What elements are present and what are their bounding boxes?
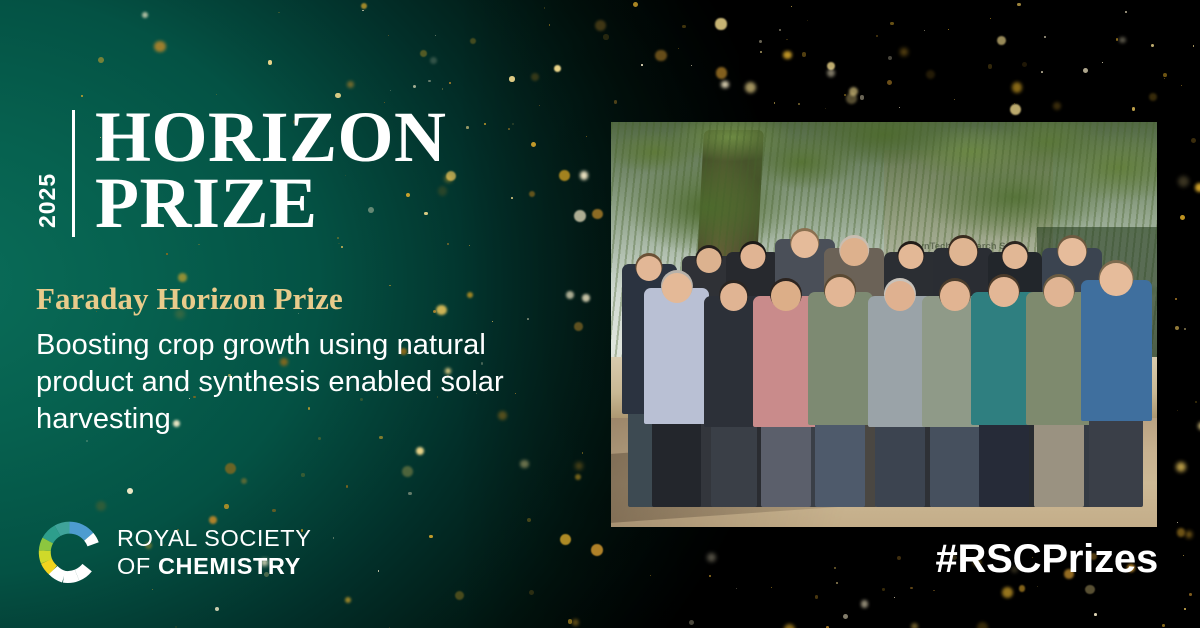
bokeh-dot	[977, 622, 988, 628]
bokeh-dot	[802, 52, 807, 57]
bokeh-dot	[784, 624, 795, 628]
hashtag-label: #RSCPrizes	[935, 537, 1158, 582]
bokeh-dot	[910, 587, 913, 590]
bokeh-dot	[1178, 176, 1189, 187]
person-lower-body	[1089, 412, 1143, 507]
bokeh-dot	[760, 51, 763, 54]
person-head	[720, 283, 748, 311]
bokeh-dot	[791, 6, 792, 7]
bokeh-dot	[783, 51, 792, 60]
bokeh-dot	[1151, 44, 1154, 47]
person-lower-body	[711, 418, 757, 506]
bokeh-dot	[709, 575, 710, 576]
bokeh-dot	[1184, 328, 1186, 330]
bokeh-dot	[1184, 608, 1186, 610]
bokeh-dot	[1177, 410, 1178, 411]
bokeh-dot	[1044, 36, 1046, 38]
bokeh-dot	[716, 67, 727, 78]
bokeh-dot	[771, 587, 772, 588]
person-head	[940, 281, 970, 311]
person-lower-body	[652, 415, 702, 507]
person-torso	[644, 288, 710, 424]
award-year: 2025	[36, 104, 59, 230]
bokeh-dot	[1149, 93, 1157, 101]
bokeh-dot	[1163, 73, 1167, 77]
bokeh-dot	[1022, 62, 1027, 67]
photo-person	[644, 288, 710, 507]
bokeh-dot	[924, 30, 925, 31]
bokeh-dot	[954, 99, 955, 100]
bokeh-dot	[779, 29, 781, 31]
person-head	[1059, 238, 1087, 266]
bokeh-dot	[1183, 555, 1184, 556]
bokeh-dot	[888, 56, 892, 60]
bokeh-dot	[890, 22, 894, 26]
bokeh-dot	[650, 575, 651, 576]
bokeh-dot	[861, 600, 868, 607]
award-block: Faraday Horizon Prize Boosting crop grow…	[36, 282, 581, 438]
person-head	[740, 244, 765, 269]
bokeh-dot	[933, 590, 934, 591]
bokeh-dot	[1116, 38, 1118, 40]
bokeh-dot	[736, 588, 737, 589]
royal-society-of-chemistry-roundel-icon	[38, 521, 101, 584]
person-head	[840, 238, 868, 266]
bokeh-dot	[1195, 183, 1200, 192]
rsc-logo-chemistry: CHEMISTRY	[158, 553, 301, 579]
photo-person	[1081, 280, 1152, 507]
bokeh-dot	[815, 595, 819, 599]
bokeh-dot	[926, 70, 935, 79]
bokeh-dot	[990, 18, 991, 19]
person-head	[825, 277, 855, 307]
person-lower-body	[979, 417, 1029, 507]
vertical-divider	[72, 110, 75, 237]
bokeh-dot	[633, 2, 638, 7]
person-head	[949, 238, 977, 266]
bokeh-dot	[1164, 78, 1165, 79]
page-title: HORIZON PRIZE	[95, 104, 447, 236]
bokeh-dot	[899, 107, 900, 108]
bokeh-dot	[1189, 593, 1192, 596]
bokeh-dot	[1186, 531, 1192, 537]
bokeh-dot	[1132, 107, 1136, 111]
headline-block: 2025 HORIZON PRIZE	[36, 104, 447, 237]
bokeh-dot	[827, 69, 835, 77]
bokeh-dot	[1019, 585, 1026, 592]
bokeh-dot	[1177, 522, 1178, 523]
bokeh-dot	[1002, 587, 1013, 598]
bokeh-dot	[774, 102, 775, 103]
bokeh-dot	[887, 80, 892, 85]
bokeh-dot	[1053, 102, 1062, 111]
person-head	[1002, 244, 1027, 269]
person-torso	[808, 292, 874, 425]
bokeh-dot	[1181, 85, 1182, 86]
bokeh-dot	[911, 623, 919, 628]
team-photograph: SynTech Research Spain R & D for Agricul…	[611, 122, 1157, 527]
person-head	[791, 231, 819, 259]
bokeh-dot	[807, 20, 809, 22]
prize-announcement-card: 2025 HORIZON PRIZE Faraday Horizon Prize…	[0, 0, 1200, 628]
person-head	[989, 277, 1019, 307]
bokeh-dot	[897, 556, 901, 560]
bokeh-dot	[1176, 462, 1186, 472]
bokeh-dot	[1010, 104, 1021, 115]
bokeh-dot	[882, 588, 884, 590]
bokeh-dot	[1175, 326, 1179, 330]
bokeh-dot	[894, 597, 895, 598]
bokeh-dot	[1177, 528, 1185, 536]
bokeh-dot	[689, 620, 694, 625]
person-lower-body	[761, 418, 811, 506]
photo-person	[808, 292, 874, 507]
bokeh-dot	[759, 40, 763, 44]
bokeh-dot	[678, 48, 679, 49]
bokeh-dot	[1162, 624, 1165, 627]
rsc-logo-line2: OF CHEMISTRY	[117, 553, 312, 581]
bokeh-dot	[1094, 613, 1097, 616]
bokeh-dot	[1193, 45, 1195, 47]
rsc-logo-of: OF	[117, 553, 158, 579]
bokeh-dot	[900, 48, 908, 56]
bokeh-dot	[876, 35, 877, 36]
person-head	[885, 281, 915, 311]
rsc-logo: ROYAL SOCIETY OF CHEMISTRY	[38, 521, 312, 584]
bokeh-dot	[843, 614, 848, 619]
bokeh-dot	[834, 567, 835, 568]
bokeh-dot	[641, 64, 643, 66]
person-head	[637, 256, 662, 281]
bokeh-dot	[1119, 37, 1125, 43]
person-head	[661, 273, 691, 303]
bokeh-dot	[691, 65, 692, 66]
person-head	[1100, 263, 1133, 296]
person-head	[697, 248, 722, 273]
bokeh-dot	[846, 93, 857, 104]
bokeh-dot	[997, 36, 1006, 45]
rsc-logo-line1: ROYAL SOCIETY	[117, 525, 312, 553]
bokeh-dot	[988, 64, 992, 68]
bokeh-dot	[721, 81, 728, 88]
bokeh-dot	[1017, 3, 1021, 7]
bokeh-dot	[614, 100, 617, 103]
bokeh-dot	[1191, 138, 1197, 144]
bokeh-dot	[825, 108, 826, 109]
bokeh-dot	[1175, 298, 1177, 300]
person-head	[1044, 277, 1074, 307]
left-content-column: 2025 HORIZON PRIZE Faraday Horizon Prize…	[0, 0, 600, 628]
bokeh-dot	[682, 25, 685, 28]
person-torso	[1081, 280, 1152, 421]
bokeh-dot	[1012, 82, 1022, 92]
person-lower-body	[1034, 417, 1084, 507]
bokeh-dot	[715, 18, 726, 29]
bokeh-dot	[1180, 215, 1185, 220]
bokeh-dot	[745, 82, 756, 93]
award-description: Boosting crop growth using natural produ…	[36, 327, 581, 438]
bokeh-dot	[1041, 71, 1043, 73]
rsc-logo-wordmark: ROYAL SOCIETY OF CHEMISTRY	[117, 525, 312, 580]
bokeh-dot	[1083, 68, 1088, 73]
award-name: Faraday Horizon Prize	[36, 282, 581, 317]
bokeh-dot	[860, 95, 865, 100]
person-head	[771, 281, 801, 311]
bokeh-dot	[1085, 585, 1095, 595]
page-title-line2: PRIZE	[95, 170, 447, 236]
bokeh-dot	[786, 39, 787, 40]
bokeh-dot	[655, 50, 667, 62]
bokeh-dot	[1037, 586, 1038, 587]
person-lower-body	[815, 417, 865, 507]
bokeh-dot	[798, 103, 800, 105]
person-lower-body	[875, 418, 925, 506]
bokeh-dot	[707, 553, 717, 563]
bokeh-dot	[948, 29, 949, 30]
bokeh-dot	[1125, 11, 1127, 13]
bokeh-dot	[1195, 401, 1197, 403]
person-head	[899, 244, 924, 269]
bokeh-dot	[836, 582, 838, 584]
bokeh-dot	[603, 34, 608, 39]
bokeh-dot	[1102, 62, 1103, 63]
